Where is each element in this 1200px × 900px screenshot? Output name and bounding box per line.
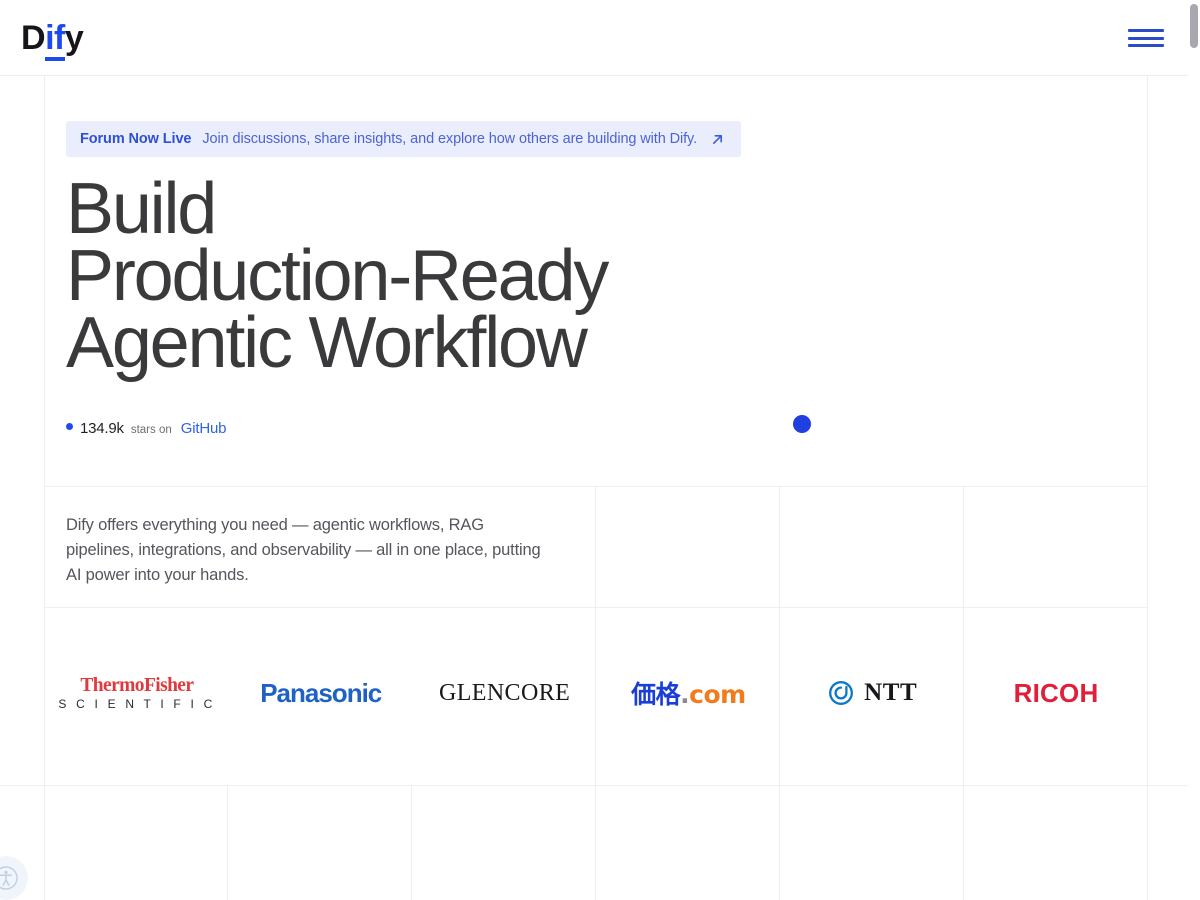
- customer-logos-row: ThermoFisher S C I E N T I F I C Panason…: [45, 608, 1148, 778]
- github-stars: 134.9k stars on GitHub: [66, 420, 226, 437]
- ricoh-wordmark: RICOH: [1014, 678, 1099, 709]
- hamburger-line-1: [1128, 29, 1164, 32]
- github-link[interactable]: GitHub: [181, 420, 227, 437]
- github-stars-label: stars on: [131, 424, 172, 436]
- thermo-fisher-wordmark: ThermoFisher: [58, 676, 215, 696]
- ntt-swirl-icon: [827, 679, 855, 707]
- logo-thermo-fisher: ThermoFisher S C I E N T I F I C: [45, 663, 229, 723]
- hamburger-line-2: [1128, 37, 1164, 40]
- hero-section: Forum Now Live Join discussions, share i…: [45, 76, 1148, 486]
- grid-vline-c2: [411, 786, 412, 900]
- scrollbar-thumb[interactable]: [1190, 4, 1198, 48]
- scrollbar-track[interactable]: [1188, 0, 1200, 900]
- logo-part-d: D: [21, 19, 45, 57]
- grid-vline-c1: [227, 786, 228, 900]
- page-root: Dify Forum Now Live Join discussions, sh…: [0, 0, 1200, 900]
- arrow-up-right-icon: [710, 132, 725, 147]
- forum-banner[interactable]: Forum Now Live Join discussions, share i…: [66, 121, 741, 157]
- logo-glencore: GLENCORE: [413, 663, 597, 723]
- hamburger-line-3: [1128, 44, 1164, 47]
- dify-logo[interactable]: Dify: [21, 18, 83, 58]
- logo-ricoh: RICOH: [964, 663, 1148, 723]
- page-title: BuildProduction-ReadyAgentic Workflow: [66, 176, 607, 377]
- headline-line-3: Agentic Workflow: [66, 303, 586, 383]
- accessibility-person-icon: [0, 866, 18, 890]
- decorative-blue-dot: [793, 415, 811, 433]
- forum-banner-title: Forum Now Live: [80, 131, 191, 147]
- logo-kakaku-com: 価格.com: [596, 663, 780, 723]
- kakaku-dot: .: [680, 680, 689, 709]
- logo-panasonic: Panasonic: [229, 663, 413, 723]
- status-dot-icon: [66, 423, 73, 430]
- hamburger-menu-icon[interactable]: [1128, 27, 1164, 49]
- accessibility-widget-button[interactable]: [0, 856, 28, 900]
- forum-banner-text: Join discussions, share insights, and ex…: [202, 131, 697, 147]
- thermo-fisher-subtitle: S C I E N T I F I C: [58, 698, 215, 710]
- grid-hline-logos-bottom: [0, 785, 1200, 786]
- logo-part-y: y: [65, 19, 83, 57]
- site-header: Dify: [0, 0, 1188, 76]
- logo-ntt: NTT: [780, 663, 964, 723]
- github-stars-count: 134.9k: [80, 420, 124, 437]
- glencore-wordmark: GLENCORE: [439, 680, 570, 707]
- logo-part-if: if: [45, 19, 65, 61]
- description-section: Dify offers everything you need — agenti…: [45, 487, 1148, 607]
- kakaku-com-text: com: [689, 680, 746, 709]
- ntt-wordmark: NTT: [864, 679, 917, 707]
- panasonic-wordmark: Panasonic: [260, 678, 381, 709]
- description-text: Dify offers everything you need — agenti…: [66, 513, 546, 587]
- kakaku-kanji: 価格: [631, 680, 680, 709]
